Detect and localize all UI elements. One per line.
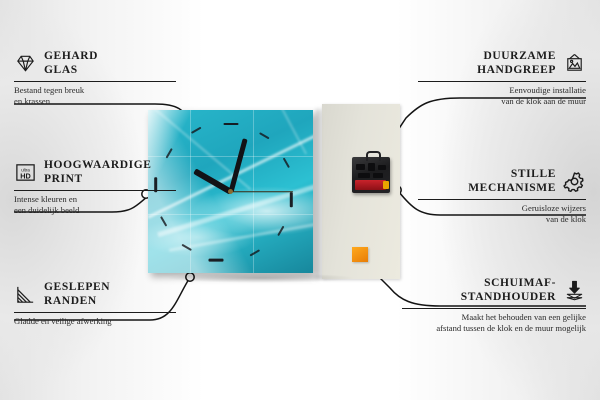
clock-tick (290, 192, 293, 207)
glass-streak (249, 110, 307, 154)
feature-hoogwaardige-print: ultra HD HOOGWAARDIGEPRINT Intense kleur… (14, 159, 176, 216)
gear-icon (563, 170, 586, 193)
feature-description: Bestand tegen breuken krassen (14, 85, 176, 107)
feature-description: Intense kleuren eneen duidelijk beeld (14, 194, 176, 216)
feature-divider (418, 199, 586, 200)
clock-tick (258, 132, 269, 139)
clock-center-pin (228, 189, 233, 194)
mechanism-detail (373, 173, 383, 178)
mechanism-detail (368, 163, 375, 171)
feature-stille-mechanisme: STILLEMECHANISME Geruisloze wijzersvan d… (418, 168, 586, 225)
floor-shadow (140, 271, 402, 285)
feature-header: ultra HD HOOGWAARDIGEPRINT (14, 159, 176, 186)
feature-title: GEHARDGLAS (44, 50, 98, 77)
feature-divider (14, 190, 176, 191)
svg-text:HD: HD (20, 171, 31, 180)
ultra-hd-icon: ultra HD (14, 161, 37, 184)
bevelled-edge-icon (14, 283, 37, 306)
feature-header: GEHARDGLAS (14, 50, 176, 77)
clock-tick (160, 216, 167, 227)
battery-terminal (383, 181, 389, 189)
clock-tick (283, 157, 290, 168)
clock-mechanism (352, 157, 390, 193)
feature-geslepen-randen: GESLEPENRANDEN Gladde en veilige afwerki… (14, 281, 176, 327)
clock-second-hand (231, 191, 293, 192)
mechanism-detail (356, 164, 365, 170)
clock-tick (208, 259, 223, 262)
mechanism-battery (355, 180, 386, 190)
mechanism-detail (358, 173, 370, 178)
feature-gehard-glas: GEHARDGLAS Bestand tegen breuken krassen (14, 50, 176, 107)
mechanism-detail (378, 165, 386, 170)
down-arrow-stack-icon (563, 279, 586, 302)
feature-divider (14, 81, 176, 82)
feature-title: HOOGWAARDIGEPRINT (44, 159, 152, 186)
framed-picture-icon (563, 52, 586, 75)
feature-description: Eenvoudige installatievan de klok aan de… (418, 85, 586, 107)
feature-header: DUURZAMEHANDGREEP (418, 50, 586, 77)
feature-divider (14, 312, 176, 313)
feature-description: Geruisloze wijzersvan de klok (418, 203, 586, 225)
feature-title: STILLEMECHANISME (468, 168, 556, 195)
feature-schuimafstandhouder: SCHUIMAF-STANDHOUDER Maakt het behouden … (402, 277, 586, 334)
glass-panel-line (148, 156, 313, 157)
feature-header: STILLEMECHANISME (418, 168, 586, 195)
mechanism-hanger-icon (366, 151, 381, 161)
feature-title: GESLEPENRANDEN (44, 281, 110, 308)
feature-header: SCHUIMAF-STANDHOUDER (402, 277, 586, 304)
feature-divider (402, 308, 586, 309)
feature-header: GESLEPENRANDEN (14, 281, 176, 308)
feature-description: Maakt het behouden van een gelijkeafstan… (402, 312, 586, 334)
feature-divider (418, 81, 586, 82)
clock-tick (190, 126, 201, 133)
product-scene (140, 95, 400, 300)
clock-tick (223, 123, 238, 126)
clock-tick (249, 250, 260, 257)
diamond-icon (14, 52, 37, 75)
foam-spacer (352, 247, 368, 262)
product-infographic: GEHARDGLAS Bestand tegen breuken krassen… (0, 0, 600, 400)
feature-duurzame-handgreep: DUURZAMEHANDGREEP Eenvoudige installatie… (418, 50, 586, 107)
feature-description: Gladde en veilige afwerking (14, 316, 176, 327)
feature-title: SCHUIMAF-STANDHOUDER (461, 277, 556, 304)
feature-title: DUURZAMEHANDGREEP (477, 50, 556, 77)
